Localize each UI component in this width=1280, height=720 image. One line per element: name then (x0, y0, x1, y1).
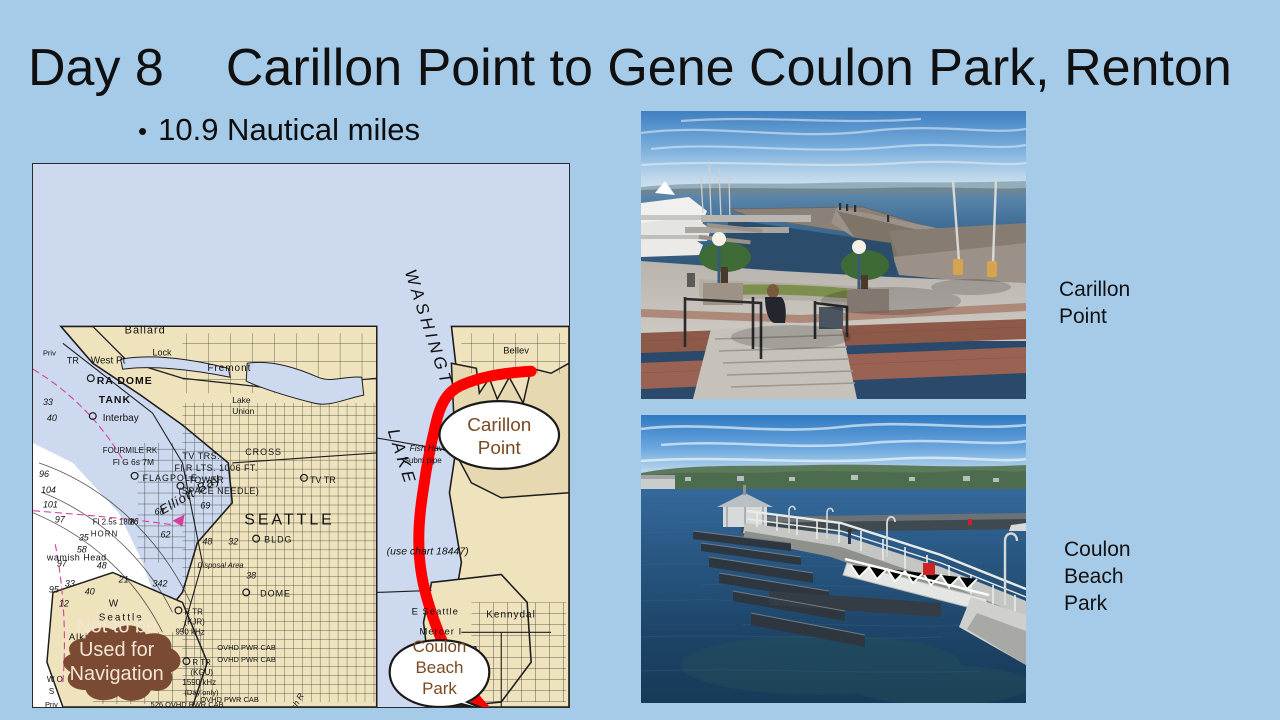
svg-text:Priv: Priv (45, 700, 58, 707)
svg-text:Disposal Area: Disposal Area (197, 561, 243, 570)
caption-coulon-line-2: Beach (1064, 563, 1131, 590)
svg-text:W O: W O (47, 675, 63, 684)
svg-text:97: 97 (55, 515, 66, 525)
svg-text:OVHD PWR CAB: OVHD PWR CAB (217, 655, 276, 664)
svg-text:(KGU): (KGU) (190, 668, 213, 677)
caption-carillon-line-1: Carillon (1059, 276, 1130, 303)
svg-text:21: 21 (118, 574, 129, 584)
svg-text:342: 342 (153, 578, 168, 588)
svg-text:SEATTLE: SEATTLE (244, 512, 335, 529)
bullet-item-distance: • 10.9 Nautical miles (138, 112, 420, 148)
svg-text:Priv: Priv (43, 348, 56, 357)
svg-text:TR: TR (67, 355, 79, 365)
svg-text:32: 32 (228, 537, 238, 547)
svg-text:R TR: R TR (184, 607, 203, 616)
svg-text:Mercer I: Mercer I (420, 626, 463, 637)
bullet-text: 10.9 Nautical miles (158, 112, 420, 148)
svg-text:48: 48 (97, 561, 107, 571)
callout-carillon-line-2: Point (478, 438, 522, 459)
photo1-sky (641, 111, 1026, 193)
svg-text:E Seattle: E Seattle (412, 606, 459, 617)
svg-text:33: 33 (65, 578, 75, 588)
svg-text:Bellev: Bellev (503, 345, 529, 356)
svg-text:West Pt: West Pt (91, 355, 126, 366)
photo1-bollard (687, 273, 695, 287)
callout-carillon-line-1: Carillon (467, 415, 531, 436)
svg-text:TANK: TANK (99, 395, 131, 406)
caption-coulon-beach-park: Coulon Beach Park (1064, 536, 1131, 617)
caption-carillon-line-2: Point (1059, 303, 1130, 330)
svg-text:Union: Union (232, 406, 254, 416)
coulon-beach-park-photo[interactable] (641, 415, 1026, 703)
svg-text:1590 kHz: 1590 kHz (182, 678, 216, 687)
svg-text:16: 16 (129, 517, 139, 527)
svg-text:104: 104 (41, 485, 56, 495)
svg-text:OVHD PWR CAB: OVHD PWR CAB (217, 643, 276, 652)
map-note-use-chart: (use chart 18447) (387, 547, 469, 558)
svg-text:95: 95 (49, 584, 59, 594)
svg-text:96: 96 (39, 469, 49, 479)
svg-text:62: 62 (161, 530, 171, 540)
svg-text:S: S (49, 687, 54, 696)
nautical-chart-map[interactable]: WASHINGT LAKE (use chart 18447) Ballard … (32, 163, 570, 708)
svg-text:Fl G 6s 7M: Fl G 6s 7M (113, 457, 154, 467)
svg-text:TV TRS.: TV TRS. (182, 451, 220, 461)
svg-text:12: 12 (59, 598, 69, 608)
svg-text:W: W (109, 598, 119, 609)
svg-text:38: 38 (246, 570, 256, 580)
caption-coulon-line-1: Coulon (1064, 536, 1131, 563)
svg-text:Ballard: Ballard (125, 324, 166, 336)
svg-text:Lake: Lake (232, 395, 251, 405)
svg-text:BLDG: BLDG (264, 535, 292, 545)
bullet-marker-icon: • (138, 118, 147, 144)
photo2-person (848, 529, 852, 544)
svg-text:TV TR: TV TR (310, 475, 336, 485)
warning-line-2: Used for (79, 639, 155, 661)
svg-text:DOME: DOME (260, 588, 291, 598)
photo2-buoy (968, 519, 972, 525)
callout-coulon-line-3: Park (422, 679, 457, 698)
title-day: Day 8 (28, 39, 164, 97)
photo2-left-building-roof (641, 475, 675, 479)
svg-text:Interbay: Interbay (103, 413, 139, 424)
svg-text:CROSS: CROSS (245, 447, 282, 457)
page-title: Day 8Carillon Point to Gene Coulon Park,… (28, 38, 1258, 100)
carillon-point-photo-svg (641, 111, 1026, 399)
svg-text:40: 40 (47, 413, 57, 423)
svg-text:97: 97 (57, 559, 68, 569)
svg-text:33: 33 (43, 397, 53, 407)
svg-text:526 OVHD PWR CAB: 526 OVHD PWR CAB (151, 700, 224, 707)
svg-text:Lock: Lock (153, 347, 172, 357)
svg-text:68: 68 (155, 507, 165, 517)
svg-text:35: 35 (79, 533, 89, 543)
map-callout-carillon-point[interactable]: Carillon Point (439, 401, 559, 469)
svg-text:RA DOME: RA DOME (97, 376, 153, 387)
svg-text:101: 101 (43, 500, 58, 510)
svg-text:Subm pipe: Subm pipe (404, 456, 443, 465)
warning-line-1: Not to be (76, 615, 157, 637)
title-route: Carillon Point to Gene Coulon Park, Rent… (226, 39, 1232, 97)
caption-coulon-line-3: Park (1064, 590, 1131, 617)
bullet-list: • 10.9 Nautical miles (138, 112, 420, 148)
svg-text:58: 58 (77, 545, 87, 555)
svg-text:(KJR): (KJR) (184, 617, 205, 626)
svg-text:Fremont: Fremont (207, 363, 251, 374)
callout-coulon-line-1: Coulon (413, 637, 467, 656)
svg-text:69: 69 (200, 501, 210, 511)
svg-text:40: 40 (85, 586, 95, 596)
caption-carillon-point: Carillon Point (1059, 276, 1130, 330)
svg-text:48: 48 (202, 537, 212, 547)
coulon-beach-park-photo-svg (641, 415, 1026, 703)
callout-coulon-line-2: Beach (415, 658, 463, 677)
svg-text:950 kHz: 950 kHz (175, 627, 204, 636)
svg-text:FOURMILE RK: FOURMILE RK (103, 446, 158, 455)
photo2-red-sign (923, 563, 935, 575)
map-svg: WASHINGT LAKE (use chart 18447) Ballard … (33, 164, 569, 707)
carillon-point-photo[interactable] (641, 111, 1026, 399)
svg-text:Kennydal: Kennydal (486, 609, 535, 620)
svg-text:R TR: R TR (192, 658, 211, 667)
svg-text:HORN: HORN (91, 530, 118, 539)
warning-line-3: Navigation (70, 663, 164, 685)
